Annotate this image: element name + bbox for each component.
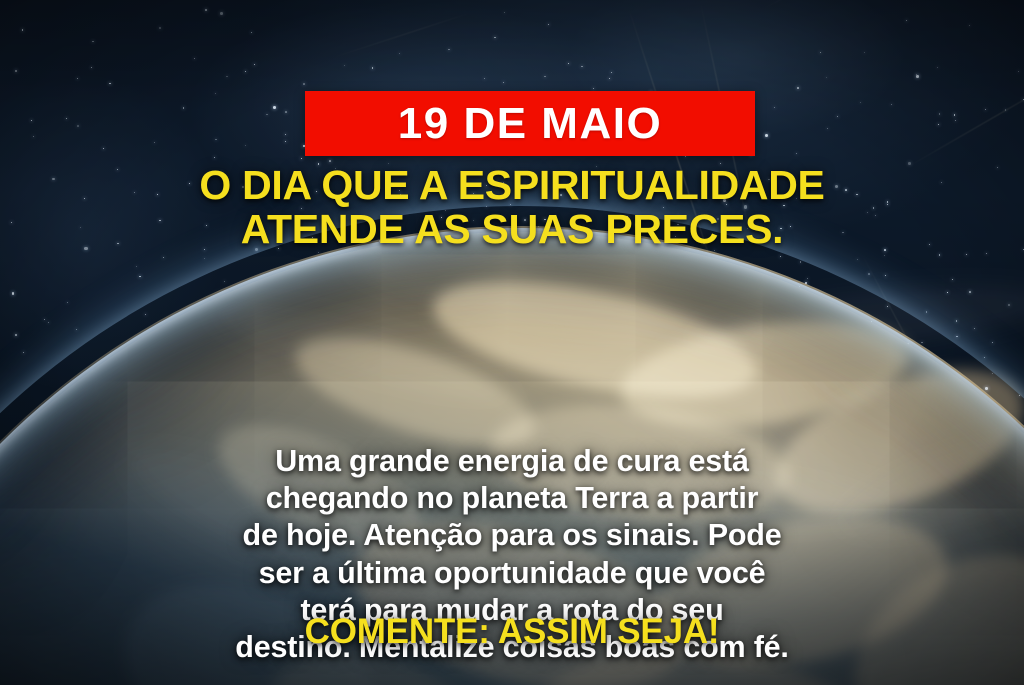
poster-canvas: 19 DE MAIO O DIA QUE A ESPIRITUALIDADE A… [0,0,1024,685]
call-to-action: COMENTE: ASSIM SEJA! [0,614,1024,649]
headline-line-1: O DIA QUE A ESPIRITUALIDADE [0,163,1024,207]
headline-line-2: ATENDE AS SUAS PRECES. [0,207,1024,251]
date-banner: 19 DE MAIO [305,91,755,156]
call-to-action-label: COMENTE: ASSIM SEJA! [305,612,720,651]
headline: O DIA QUE A ESPIRITUALIDADE ATENDE AS SU… [0,163,1024,252]
body-line-1: Uma grande energia de cura está [56,443,968,480]
body-line-3: de hoje. Atenção para os sinais. Pode [56,517,968,554]
body-line-2: chegando no planeta Terra a partir [56,480,968,517]
poster-content: 19 DE MAIO O DIA QUE A ESPIRITUALIDADE A… [0,0,1024,685]
date-banner-label: 19 DE MAIO [398,102,662,146]
body-line-4: ser a última oportunidade que você [56,555,968,592]
